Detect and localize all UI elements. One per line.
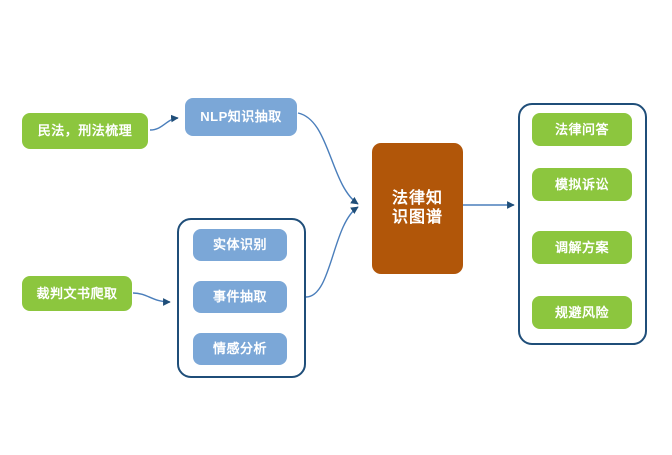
center-node-label-line1: 法律知 xyxy=(392,190,443,209)
connector-law-to-nlp xyxy=(150,118,178,130)
connector-nlp-to-graph xyxy=(298,113,358,204)
diagram-canvas: 民法，刑法梳理 裁判文书爬取 NLP知识抽取 实体识别 事件抽取 情感分析 法律… xyxy=(0,0,672,455)
application-label: 法律问答 xyxy=(555,122,609,137)
application-mock-litigation[interactable]: 模拟诉讼 xyxy=(532,168,632,201)
connector-tasks-to-graph xyxy=(306,207,358,297)
input-node-label: 民法，刑法梳理 xyxy=(38,123,133,138)
nlp-task-label: 实体识别 xyxy=(213,237,267,252)
application-legal-qa[interactable]: 法律问答 xyxy=(532,113,632,146)
application-risk-avoidance[interactable]: 规避风险 xyxy=(532,296,632,329)
application-mediation-plan[interactable]: 调解方案 xyxy=(532,231,632,264)
input-node-label: 裁判文书爬取 xyxy=(36,286,117,301)
nlp-node-label: NLP知识抽取 xyxy=(200,109,282,124)
legal-knowledge-graph-node[interactable]: 法律知 识图谱 xyxy=(372,143,463,274)
center-node-label-line2: 识图谱 xyxy=(392,209,443,228)
nlp-task-label: 事件抽取 xyxy=(213,289,267,304)
nlp-task-event-extraction[interactable]: 事件抽取 xyxy=(193,281,287,313)
application-label: 规避风险 xyxy=(555,305,609,320)
nlp-task-label: 情感分析 xyxy=(213,341,267,356)
nlp-knowledge-extraction-node[interactable]: NLP知识抽取 xyxy=(185,98,297,136)
application-label: 模拟诉讼 xyxy=(555,177,609,192)
connector-crawl-to-tasks xyxy=(133,293,170,302)
input-node-judgment-doc-crawl[interactable]: 裁判文书爬取 xyxy=(22,276,132,311)
nlp-task-sentiment-analysis[interactable]: 情感分析 xyxy=(193,333,287,365)
nlp-task-entity-recognition[interactable]: 实体识别 xyxy=(193,229,287,261)
application-label: 调解方案 xyxy=(555,240,609,255)
input-node-civil-criminal-law[interactable]: 民法，刑法梳理 xyxy=(22,113,148,149)
